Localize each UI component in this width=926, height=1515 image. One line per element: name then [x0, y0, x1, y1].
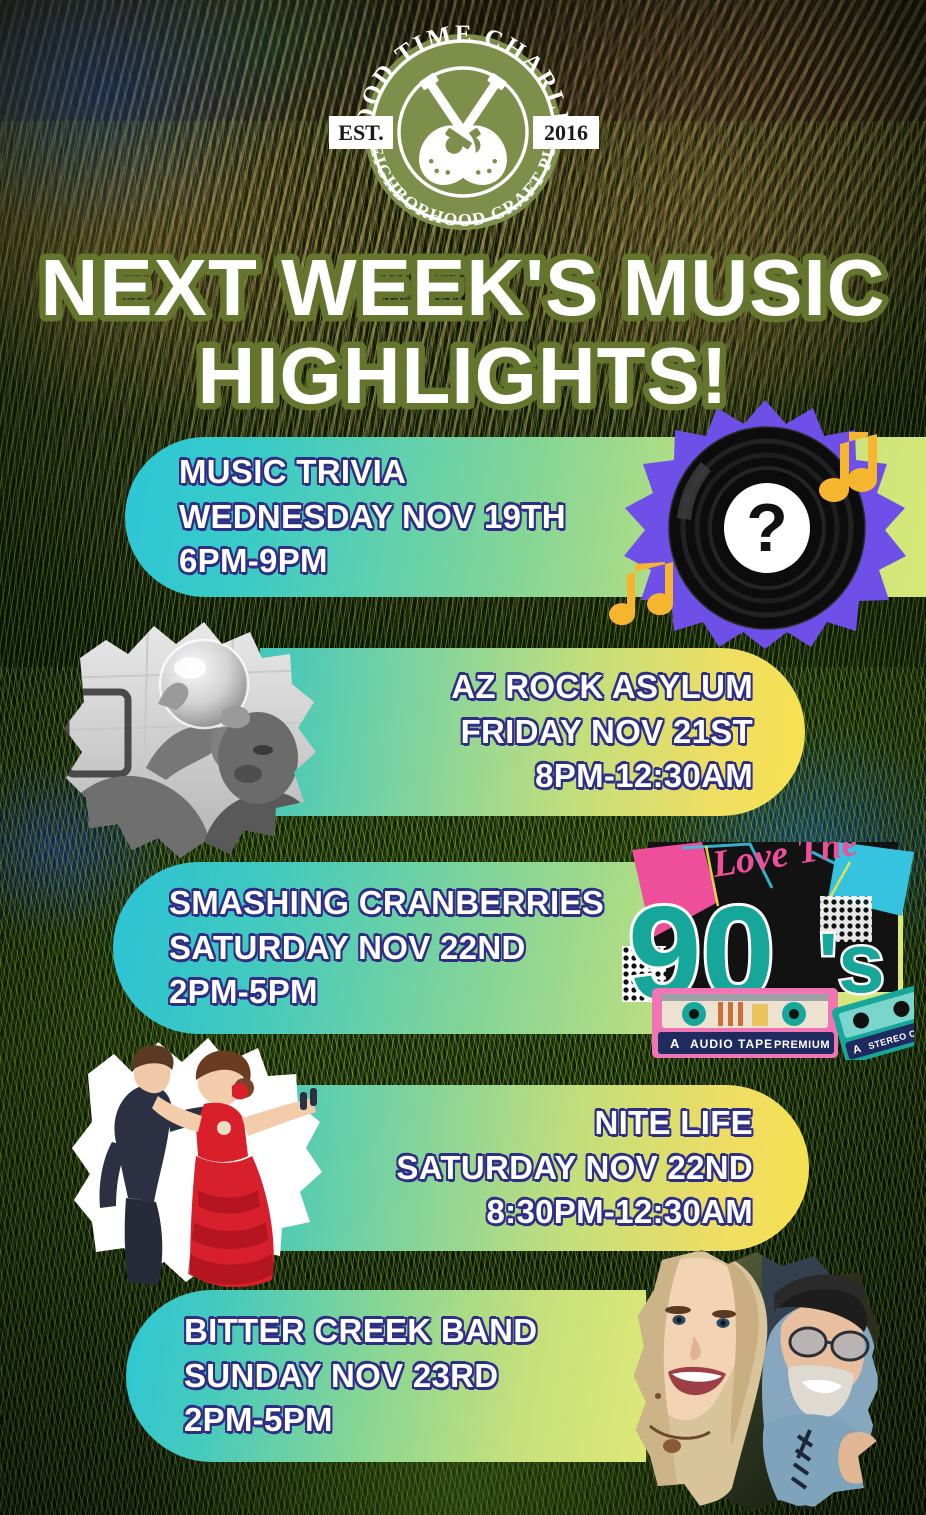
vinyl-record-question-icon: ? — [615, 398, 915, 650]
event-title: AZ ROCK ASYLUM — [451, 665, 753, 710]
event-date: FRIDAY NOV 21ST — [461, 710, 753, 755]
event-time: 8PM-12:30AM — [535, 754, 753, 799]
event-title: BITTER CREEK BAND — [184, 1309, 646, 1354]
event-card-nite-life[interactable]: NITE LIFE SATURDAY NOV 22ND 8:30PM-12:30… — [246, 1085, 809, 1251]
we-love-the-90s-graphic: We Love The 90 's A AUDIO TAPE PREMIU — [622, 842, 914, 1060]
event-poster: GOOD TIME CHARLI'S NEIGHBORHOOD CRAFT PU… — [0, 0, 926, 1515]
event-title: NITE LIFE — [594, 1101, 753, 1146]
cassette-side-label: A — [670, 1036, 680, 1051]
event-card-az-rock-asylum[interactable]: AZ ROCK ASYLUM FRIDAY NOV 21ST 8PM-12:30… — [260, 648, 805, 816]
event-time: 8:30PM-12:30AM — [487, 1190, 753, 1235]
event-time: 2PM-5PM — [184, 1398, 646, 1443]
event-date: SATURDAY NOV 22ND — [396, 1146, 753, 1191]
event-card-bitter-creek-band[interactable]: BITTER CREEK BAND SUNDAY NOV 23RD 2PM-5P… — [126, 1290, 646, 1462]
logo-year-label: 2016 — [544, 120, 588, 145]
event-date: SUNDAY NOV 23RD — [184, 1354, 646, 1399]
cassette-premium-label: PREMIUM — [774, 1039, 830, 1051]
crystal-ball-photo — [62, 618, 318, 860]
vinyl-disc: ? — [669, 427, 865, 629]
vinyl-label-text: ? — [746, 490, 788, 566]
cassette-tape-icon: A AUDIO TAPE PREMIUM — [652, 988, 838, 1058]
band-duo-photo — [632, 1250, 880, 1512]
dancing-couple-illustration — [72, 1030, 324, 1292]
logo-est-label: EST. — [338, 120, 383, 145]
cassette-audio-tape-label: AUDIO TAPE — [690, 1037, 773, 1051]
good-time-charlis-logo: GOOD TIME CHARLI'S NEIGHBORHOOD CRAFT PU… — [337, 14, 589, 236]
